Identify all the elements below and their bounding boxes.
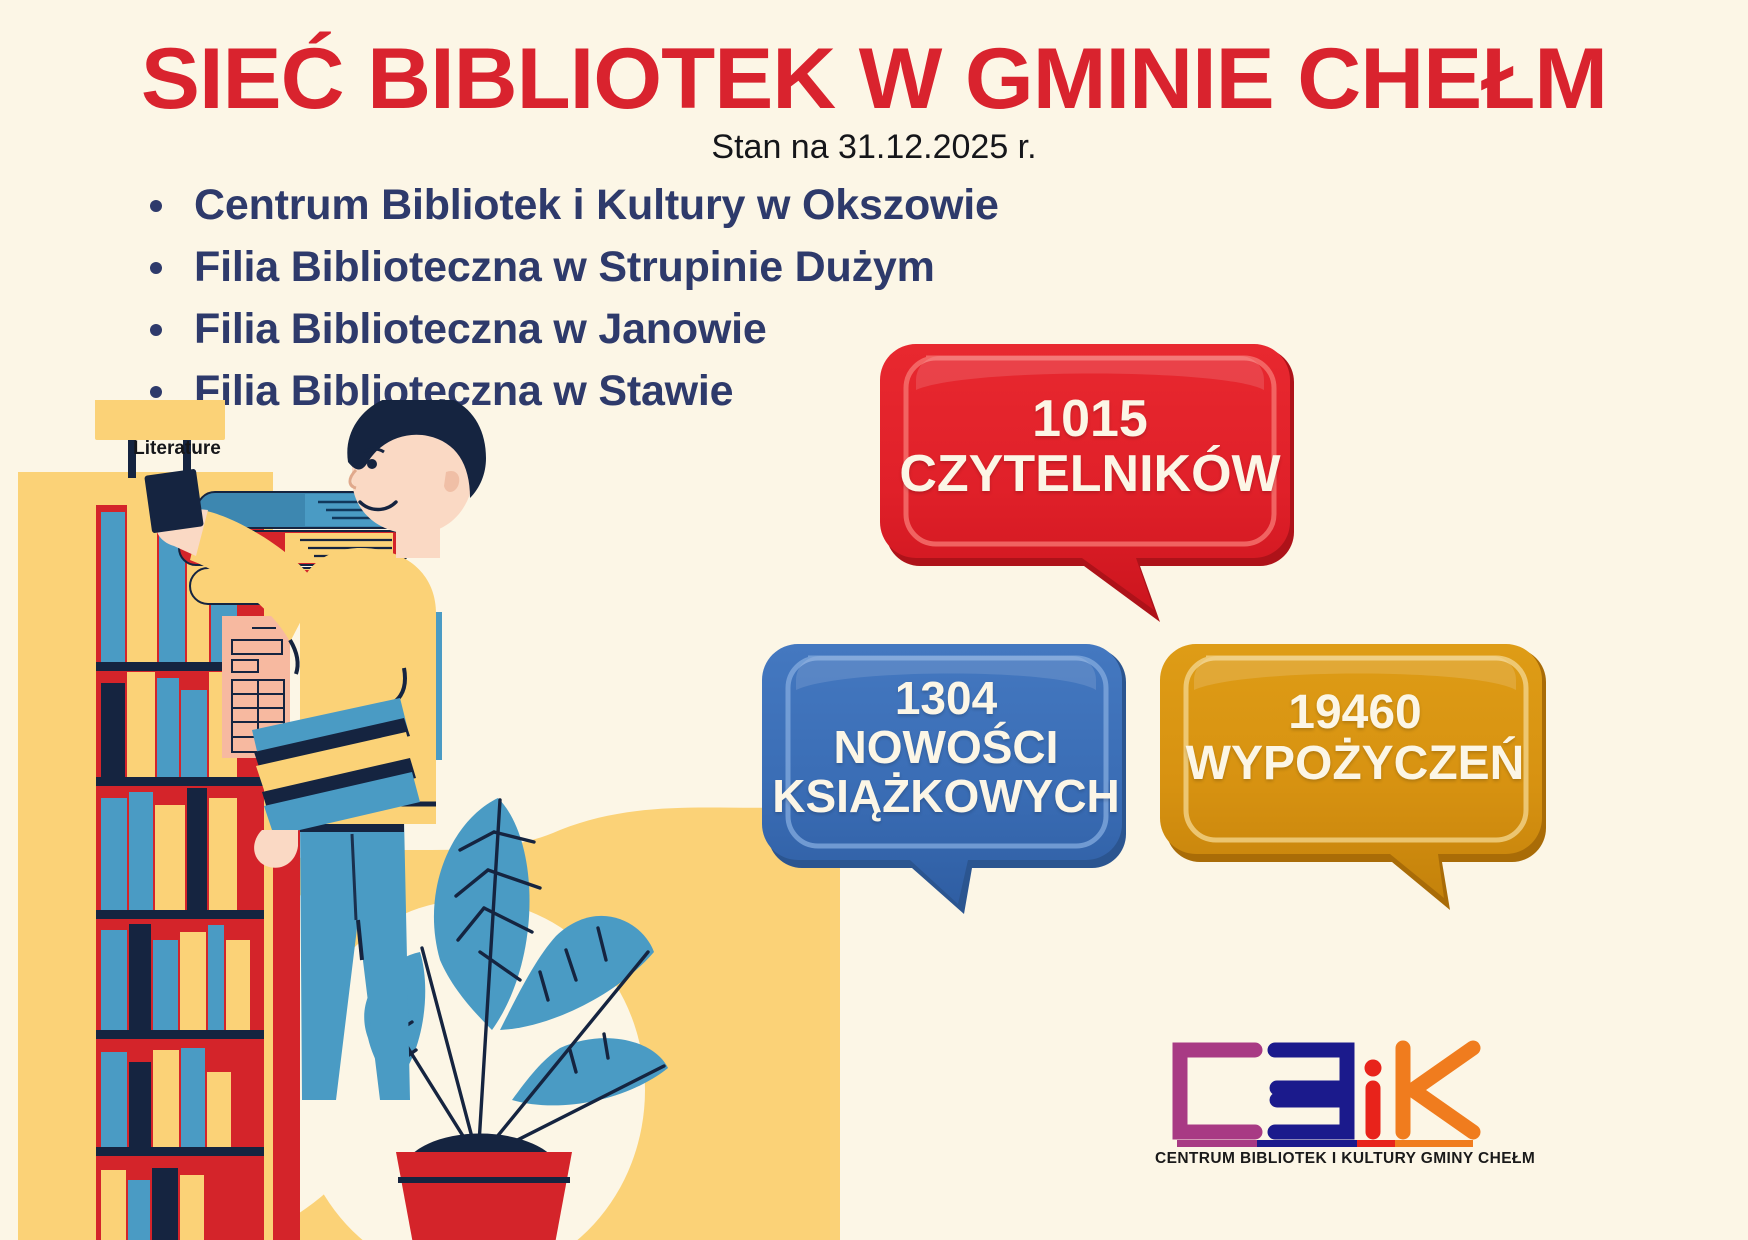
library-branch-list: Centrum Bibliotek i Kultury w Okszowie F… bbox=[150, 178, 999, 426]
cbik-logo: CENTRUM BIBLIOTEK I KULTURY GMINY CHEŁM bbox=[1155, 1040, 1485, 1180]
list-item: Filia Biblioteczna w Strupinie Dużym bbox=[150, 240, 999, 296]
stat-bubble-new-books: 1304 NOWOŚCI KSIĄŻKOWYCH bbox=[762, 640, 1130, 920]
logo-tagline: CENTRUM BIBLIOTEK I KULTURY GMINY CHEŁM bbox=[1155, 1150, 1485, 1168]
bullet-dot-icon bbox=[150, 324, 162, 336]
page-subtitle: Stan na 31.12.2025 r. bbox=[0, 128, 1748, 167]
branch-label: Filia Biblioteczna w Janowie bbox=[194, 302, 767, 358]
page-title: SIEĆ BIBLIOTEK W GMINIE CHEŁM bbox=[0, 30, 1748, 129]
bullet-dot-icon bbox=[150, 262, 162, 274]
list-item: Centrum Bibliotek i Kultury w Okszowie bbox=[150, 178, 999, 234]
stat-bubble-loans: 19460 WYPOŻYCZEŃ bbox=[1160, 640, 1550, 920]
list-item: Filia Biblioteczna w Janowie bbox=[150, 302, 999, 358]
stat-bubble-readers: 1015 CZYTELNIKÓW bbox=[880, 340, 1300, 630]
library-illustration: Literature bbox=[0, 400, 840, 1240]
branch-label: Filia Biblioteczna w Strupinie Dużym bbox=[194, 240, 935, 296]
bullet-dot-icon bbox=[150, 386, 162, 398]
branch-label: Centrum Bibliotek i Kultury w Okszowie bbox=[194, 178, 999, 234]
bullet-dot-icon bbox=[150, 200, 162, 212]
shelf-sign-label: Literature bbox=[112, 438, 242, 460]
poster-canvas: SIEĆ BIBLIOTEK W GMINIE CHEŁM Stan na 31… bbox=[0, 0, 1748, 1240]
